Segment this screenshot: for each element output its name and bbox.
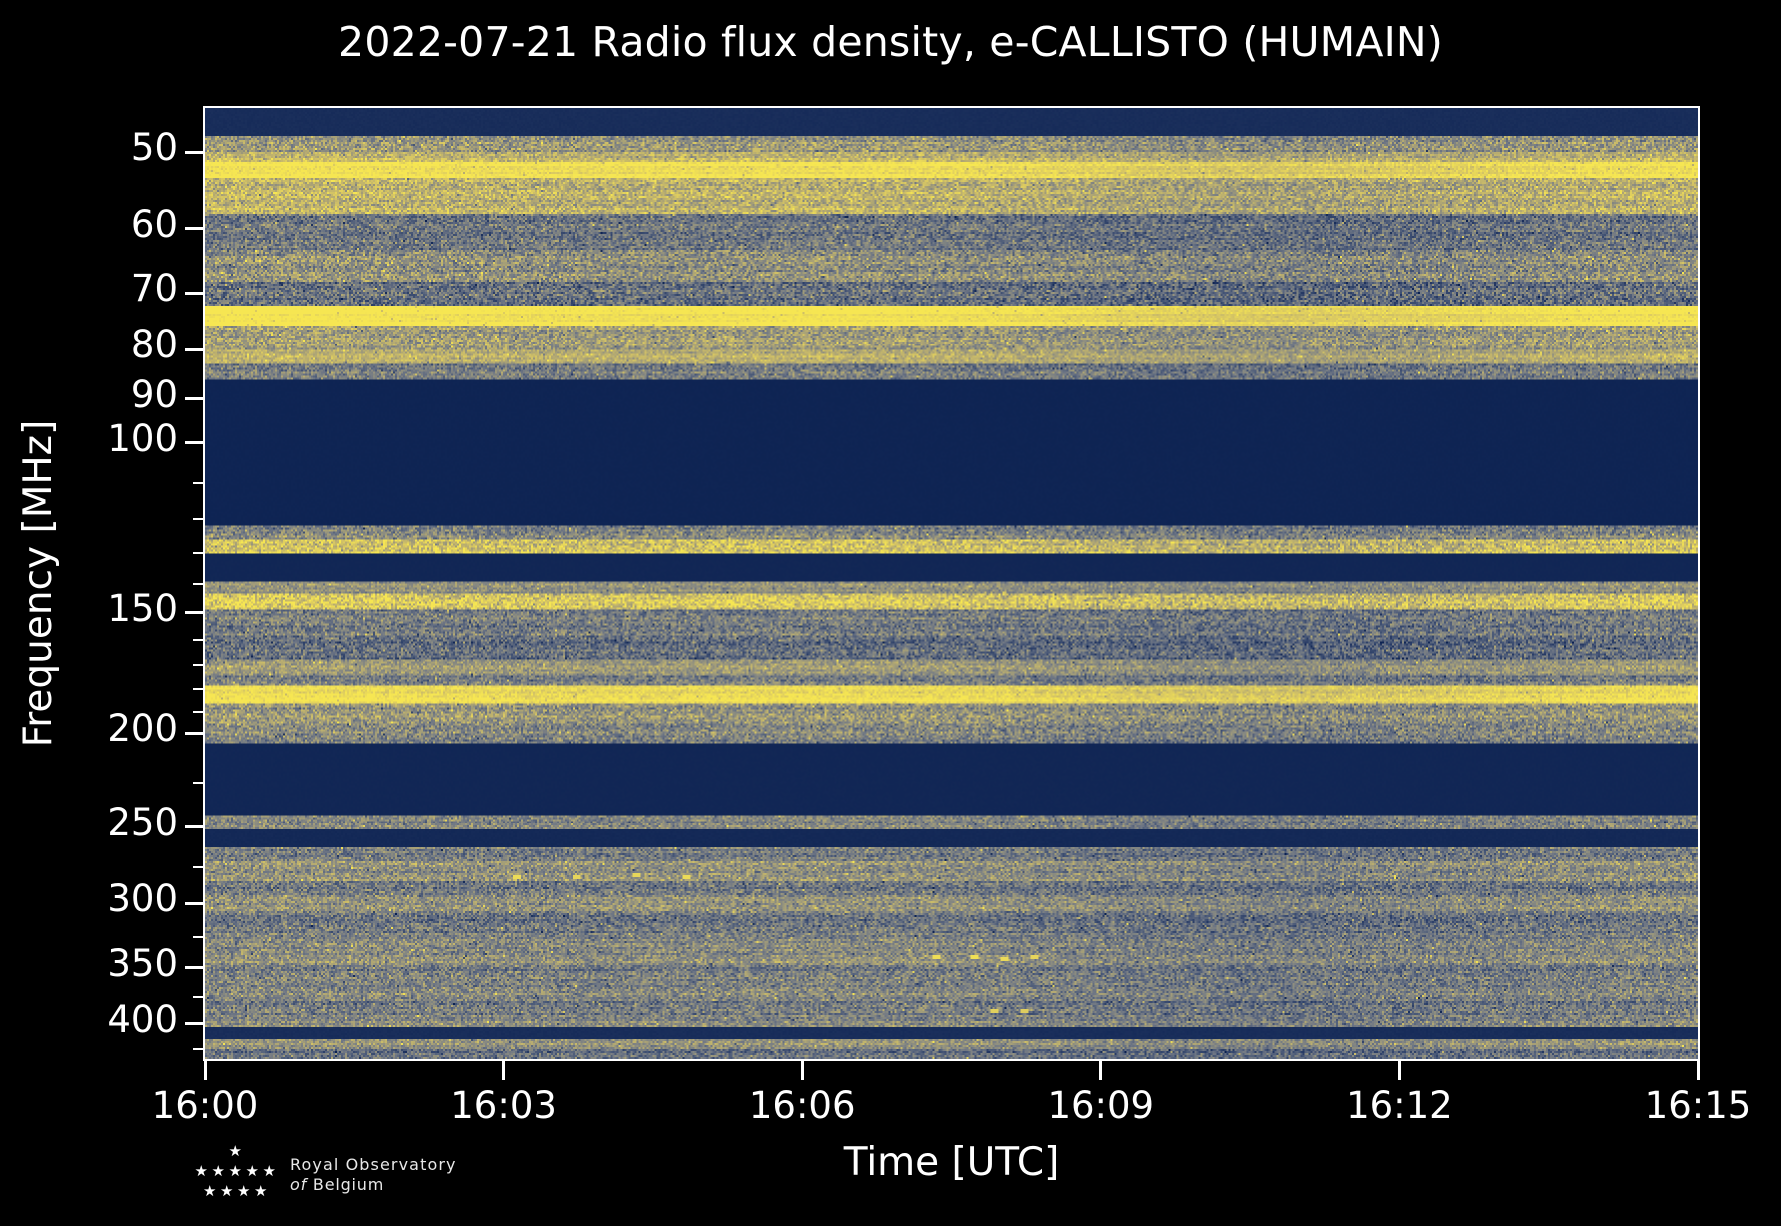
- y-tick-50: [185, 151, 204, 154]
- star-icon: ★: [220, 1184, 233, 1199]
- figure-canvas: 2022-07-21 Radio flux density, e-CALLIST…: [0, 0, 1781, 1226]
- y-tick-minor-160: [193, 639, 204, 641]
- star-icon: ★: [237, 1184, 250, 1199]
- y-tick-minor-180: [193, 688, 204, 690]
- x-tick-label-16-06: 16:06: [692, 1084, 912, 1127]
- y-tick-minor-425: [193, 1048, 204, 1050]
- star-icon: ★: [212, 1164, 225, 1179]
- y-tick-250: [185, 825, 204, 828]
- star-icon: ★: [263, 1164, 276, 1179]
- star-icon: ★: [246, 1164, 259, 1179]
- x-tick-16-06: [801, 1061, 804, 1080]
- spectrogram-heatmap[interactable]: [205, 108, 1698, 1059]
- axis-spine-right: [1698, 108, 1700, 1061]
- y-tick-60: [185, 227, 204, 230]
- logo-line-1: Royal Observatory: [290, 1155, 457, 1175]
- y-tick-minor-120: [193, 518, 204, 520]
- x-tick-label-16-12: 16:12: [1289, 1084, 1509, 1127]
- x-tick-16-12: [1398, 1061, 1401, 1080]
- x-tick-label-16-09: 16:09: [991, 1084, 1211, 1127]
- y-tick-minor-130: [193, 552, 204, 554]
- y-tick-minor-110: [193, 482, 204, 484]
- y-tick-100: [185, 441, 204, 444]
- logo-line-2: of Belgium: [290, 1175, 457, 1195]
- y-tick-150: [185, 611, 204, 614]
- y-tick-label-350: 350: [107, 942, 178, 985]
- stars-icon: ★★★★★★★★★★: [196, 1144, 278, 1206]
- page-title: 2022-07-21 Radio flux density, e-CALLIST…: [0, 18, 1781, 66]
- y-tick-label-70: 70: [131, 267, 178, 310]
- x-tick-label-16-00: 16:00: [95, 1084, 315, 1127]
- y-tick-minor-170: [193, 664, 204, 666]
- y-tick-350: [185, 966, 204, 969]
- y-tick-label-90: 90: [131, 373, 178, 416]
- y-tick-minor-140: [193, 583, 204, 585]
- x-tick-16-00: [204, 1061, 207, 1080]
- y-tick-90: [185, 397, 204, 400]
- x-tick-label-16-03: 16:03: [394, 1084, 614, 1127]
- y-tick-label-100: 100: [107, 417, 178, 460]
- y-tick-minor-275: [193, 866, 204, 868]
- star-icon: ★: [229, 1144, 242, 1159]
- y-tick-label-400: 400: [107, 998, 178, 1041]
- star-icon: ★: [203, 1184, 216, 1199]
- y-tick-label-80: 80: [131, 323, 178, 366]
- royal-observatory-logo: ★★★★★★★★★★ Royal Observatory of Belgium: [196, 1136, 457, 1214]
- axis-spine-top: [203, 106, 1700, 108]
- y-tick-minor-190: [193, 711, 204, 713]
- star-icon: ★: [229, 1164, 242, 1179]
- y-tick-label-60: 60: [131, 203, 178, 246]
- y-tick-80: [185, 348, 204, 351]
- x-tick-16-09: [1099, 1061, 1102, 1080]
- logo-of-word: of: [290, 1175, 307, 1194]
- x-tick-16-03: [502, 1061, 505, 1080]
- y-tick-label-50: 50: [131, 126, 178, 169]
- y-tick-minor-375: [193, 996, 204, 998]
- y-tick-400: [185, 1022, 204, 1025]
- spectrogram-plot[interactable]: [205, 108, 1698, 1059]
- y-tick-minor-325: [193, 936, 204, 938]
- y-tick-label-150: 150: [107, 587, 178, 630]
- x-tick-label-16-15: 16:15: [1588, 1084, 1781, 1127]
- y-tick-label-200: 200: [107, 707, 178, 750]
- logo-text: Royal Observatory of Belgium: [290, 1155, 457, 1195]
- y-tick-70: [185, 292, 204, 295]
- y-tick-label-250: 250: [107, 801, 178, 844]
- axis-spine-bottom: [203, 1059, 1700, 1061]
- y-axis-title: Frequency [MHz]: [14, 108, 64, 1059]
- x-tick-16-15: [1697, 1061, 1700, 1080]
- y-tick-200: [185, 732, 204, 735]
- y-tick-300: [185, 902, 204, 905]
- star-icon: ★: [195, 1164, 208, 1179]
- y-tick-label-300: 300: [107, 877, 178, 920]
- logo-country: Belgium: [313, 1175, 384, 1194]
- star-icon: ★: [254, 1184, 267, 1199]
- y-tick-minor-225: [193, 782, 204, 784]
